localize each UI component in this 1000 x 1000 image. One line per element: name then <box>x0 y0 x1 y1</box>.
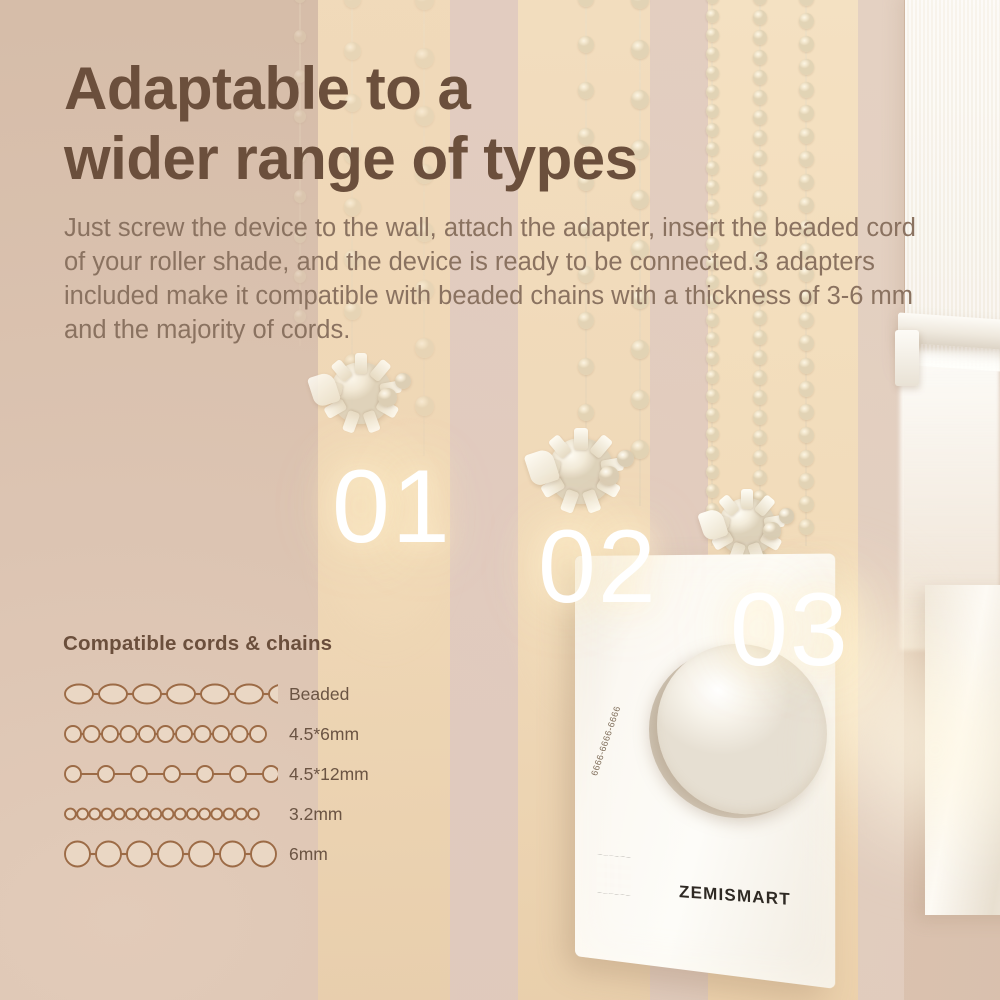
title-line-2: wider range of types <box>64 124 924 194</box>
chain-bead <box>294 0 306 3</box>
chain-bead <box>631 390 649 409</box>
chain-bead <box>294 30 306 43</box>
beaded-round-chain-small-gap-icon <box>63 719 278 749</box>
chain-bead <box>799 404 814 420</box>
chain-bead <box>578 358 594 375</box>
chain-bead <box>799 0 814 6</box>
adapter-bead-pin <box>763 522 780 539</box>
step-number-02: 02 <box>538 515 658 619</box>
beaded-micro-chain-icon <box>63 799 278 829</box>
chain-bead <box>706 389 719 403</box>
chain-bead <box>799 427 814 443</box>
chain-bead <box>753 470 767 485</box>
chain-bead <box>706 370 719 384</box>
legend-row: 3.2mm <box>63 794 483 834</box>
chain-bead <box>799 358 814 374</box>
legend-row: Beaded <box>63 674 483 714</box>
page-title: Adaptable to a wider range of types <box>64 54 924 194</box>
chain-bead <box>706 408 719 422</box>
legend-row-label: 3.2mm <box>278 804 342 825</box>
beaded-round-chain-large-icon <box>63 839 278 869</box>
chain-bead <box>753 350 767 365</box>
legend-row: 4.5*6mm <box>63 714 483 754</box>
chain-bead <box>706 427 719 441</box>
legend-row-label: 4.5*6mm <box>278 724 359 745</box>
chain-bead <box>415 0 434 10</box>
legend-row-list: Beaded4.5*6mm4.5*12mm3.2mm6mm <box>63 674 483 874</box>
title-line-1: Adaptable to a <box>64 54 924 124</box>
adapter-cog-03 <box>718 498 776 556</box>
adapter-cog-02 <box>548 438 614 504</box>
chain-bead <box>799 519 814 535</box>
chain-bead <box>706 465 719 479</box>
chain-bead <box>706 9 719 23</box>
adapter-cog-01 <box>330 362 392 424</box>
chain-bead <box>344 0 361 8</box>
compatible-cords-legend: Compatible cords & chains Beaded4.5*6mm4… <box>63 632 483 874</box>
chain-bead <box>799 496 814 512</box>
adapter-cog-tooth <box>574 428 587 450</box>
adapter-cog-tooth <box>741 489 753 509</box>
legend-heading: Compatible cords & chains <box>63 632 483 656</box>
chain-bead <box>753 390 767 405</box>
headline-block: Adaptable to a wider range of types Just… <box>64 54 924 348</box>
step-number-01: 01 <box>332 455 452 559</box>
legend-row: 6mm <box>63 834 483 874</box>
step-number-03: 03 <box>730 578 850 682</box>
chain-bead <box>799 36 814 52</box>
chain-bead <box>706 484 719 498</box>
legend-row: 4.5*12mm <box>63 754 483 794</box>
chain-bead <box>753 410 767 425</box>
roller-shade-lower-panel <box>925 585 1000 915</box>
chain-bead <box>799 450 814 466</box>
chain-bead <box>706 28 719 42</box>
chain-bead <box>753 430 767 445</box>
adapter-bead-pin <box>378 388 397 407</box>
chain-bead <box>799 381 814 397</box>
chain-bead <box>753 10 767 25</box>
chain-bead <box>799 13 814 29</box>
adapter-bead-pin <box>599 466 619 486</box>
legend-row-label: 6mm <box>278 844 328 865</box>
chain-bead <box>753 370 767 385</box>
qr-code-icon <box>597 855 631 896</box>
chain-bead <box>631 0 649 9</box>
chain-bead <box>753 450 767 465</box>
beaded-oval-chain-icon <box>63 679 278 709</box>
chain-bead <box>578 36 594 53</box>
chain-bead <box>799 473 814 489</box>
chain-bead <box>706 351 719 365</box>
beaded-round-chain-long-link-icon <box>63 759 278 789</box>
legend-row-label: Beaded <box>278 684 349 705</box>
chain-bead <box>753 30 767 45</box>
chain-bead <box>578 404 594 421</box>
chain-bead <box>706 0 719 4</box>
adapter-bead-pin <box>779 508 794 523</box>
description-paragraph: Just screw the device to the wall, attac… <box>64 212 929 348</box>
chain-bead <box>578 0 594 7</box>
chain-bead <box>415 396 434 416</box>
adapter-cog-tooth <box>355 353 367 374</box>
legend-row-label: 4.5*12mm <box>278 764 369 785</box>
chain-bead <box>753 0 767 5</box>
chain-bead <box>706 446 719 460</box>
